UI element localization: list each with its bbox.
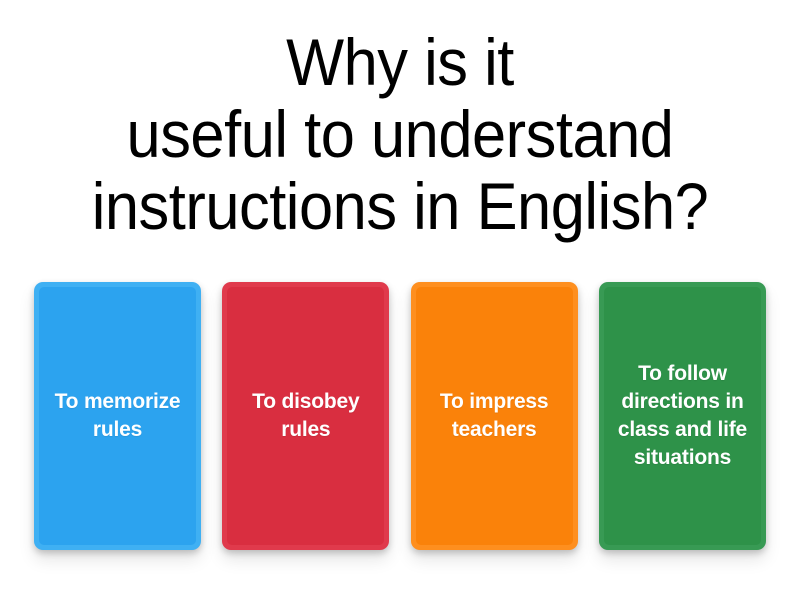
- question-area: Why is it useful to understand instructi…: [0, 0, 800, 268]
- answer-card-2-label: To disobey rules: [227, 388, 384, 444]
- answer-card-1[interactable]: To memorize rules: [34, 282, 201, 550]
- answer-card-2[interactable]: To disobey rules: [222, 282, 389, 550]
- answer-card-3-label: To impress teachers: [416, 388, 573, 444]
- question-text: Why is it useful to understand instructi…: [47, 26, 754, 242]
- answer-card-1-label: To memorize rules: [39, 388, 196, 444]
- answer-card-4[interactable]: To follow directions in class and life s…: [599, 282, 766, 550]
- answer-card-4-label: To follow directions in class and life s…: [604, 360, 761, 472]
- answer-card-3[interactable]: To impress teachers: [411, 282, 578, 550]
- quiz-slide: Why is it useful to understand instructi…: [0, 0, 800, 600]
- answer-options-row: To memorize rules To disobey rules To im…: [34, 282, 766, 554]
